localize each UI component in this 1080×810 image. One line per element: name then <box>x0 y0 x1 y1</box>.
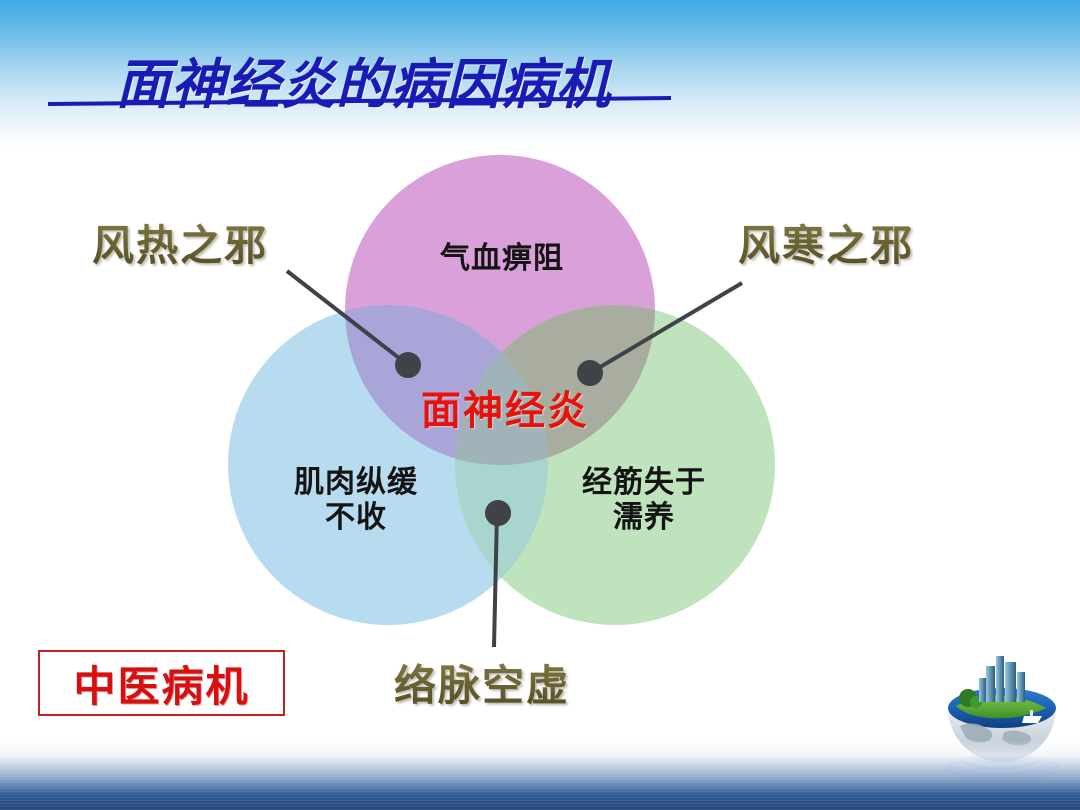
slide-title: 面神经炎的病因病机 <box>44 40 744 120</box>
tcm-pathogenesis-label: 中医病机 <box>73 653 249 714</box>
venn-circle-left <box>228 305 548 625</box>
leader-dot-left <box>397 354 419 376</box>
venn-overlap-left-right <box>455 305 775 625</box>
venn-overlap-top-left <box>228 305 548 625</box>
leader-lines <box>287 271 742 647</box>
leader-line-bottom <box>494 513 497 647</box>
venn-overlap-top-right <box>455 305 775 625</box>
leader-line-right <box>590 283 742 373</box>
tcm-pathogenesis-box: 中医病机 <box>38 650 285 716</box>
venn-label-left: 肌肉纵缓 不收 <box>236 466 476 536</box>
page-title: 面神经炎的病因病机 <box>116 40 611 119</box>
callout-label-wind-cold: 风寒之邪 <box>738 212 914 273</box>
background-bottom-sheen <box>0 776 1080 810</box>
callout-label-empty-collaterals: 络脉空虚 <box>394 652 570 713</box>
slide-canvas: 面神经炎的病因病机 <box>0 0 1080 810</box>
venn-label-top: 气血痹阻 <box>362 242 642 277</box>
venn-circle-right <box>455 305 775 625</box>
venn-center-label: 面神经炎 <box>340 378 670 436</box>
leader-line-left <box>287 271 408 365</box>
venn-overlap-center <box>455 305 775 625</box>
venn-label-right: 经筋失于 濡养 <box>524 466 764 536</box>
callout-label-wind-heat: 风热之邪 <box>92 212 268 273</box>
leader-dot-bottom <box>487 502 509 524</box>
